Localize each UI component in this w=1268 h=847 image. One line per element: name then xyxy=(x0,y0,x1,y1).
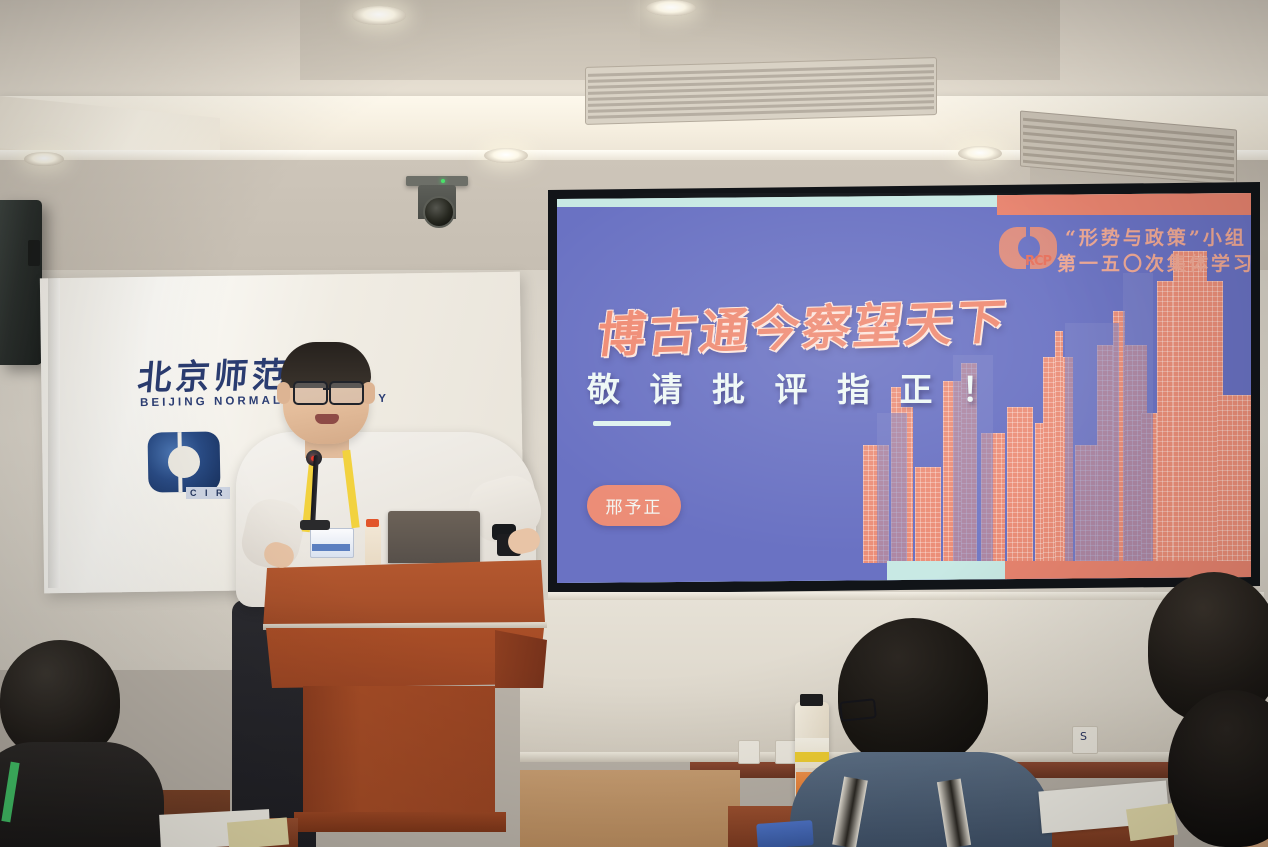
audience-member-body xyxy=(0,742,164,847)
eyeglasses-icon xyxy=(329,381,364,405)
skyline-building xyxy=(1217,395,1251,563)
slide-presenter-pill: 邢予正 xyxy=(587,485,681,526)
ceiling-recess-inner xyxy=(640,0,1060,58)
presenter-mouth xyxy=(315,414,339,424)
wall-outlet[interactable] xyxy=(775,740,797,764)
slide-presenter-name: 邢予正 xyxy=(606,493,663,518)
skyline-building-faded xyxy=(1123,273,1153,563)
wall-speaker-bracket xyxy=(28,240,40,266)
presenter-ear-left xyxy=(277,382,290,404)
floor xyxy=(520,770,740,847)
handout-notes[interactable] xyxy=(227,817,289,847)
slide-header-line2: 第一五〇次集体学习 xyxy=(1057,249,1251,276)
wall-switch-label: S xyxy=(1080,730,1087,743)
skyline-building xyxy=(1055,331,1063,563)
presenter-badge-stripe xyxy=(312,544,350,551)
water-bottle-cap xyxy=(366,519,379,527)
slide-divider xyxy=(593,421,671,426)
presenter-name-badge xyxy=(310,528,354,558)
projection-screen: RCP “形势与政策”小组 第一五〇次集体学习 博古通今察望天下 敬 请 批 评… xyxy=(557,193,1251,583)
podium-base xyxy=(294,812,506,832)
air-conditioning-vent xyxy=(585,57,937,125)
skyline-building-faded xyxy=(1065,323,1119,563)
wall-outlet[interactable] xyxy=(738,740,760,764)
podium-top xyxy=(263,560,545,628)
microphone-base xyxy=(300,520,330,530)
camera-lens-icon xyxy=(423,196,455,228)
skyline-building xyxy=(1173,251,1207,563)
wall-speaker xyxy=(0,200,42,365)
audience-member-body xyxy=(790,752,1052,847)
banner-fold xyxy=(48,278,60,588)
skyline-building-faded xyxy=(877,413,907,563)
bottle-label-stripe xyxy=(795,752,829,762)
slide-title: 博古通今察望天下 xyxy=(594,282,1013,366)
banner-logo-label: C I R xyxy=(186,487,230,499)
audience-eyeglasses-icon xyxy=(839,698,877,722)
ceiling-light xyxy=(646,0,696,16)
audience-member-head xyxy=(838,618,988,768)
bottle-cap xyxy=(800,694,823,706)
presentation-slide: RCP “形势与政策”小组 第一五〇次集体学习 博古通今察望天下 敬 请 批 评… xyxy=(557,193,1251,583)
cir-globe-icon xyxy=(147,431,220,492)
handout-notes[interactable] xyxy=(1126,803,1178,841)
slide-logo-icon: RCP xyxy=(999,227,1057,269)
podium-side xyxy=(495,630,547,690)
slide-logo-text: RCP xyxy=(1025,254,1051,269)
slide-coral-top-bar xyxy=(997,193,1251,215)
lecture-hall-photo: 北京师范大学 BEIJING NORMAL UNIVERSITY C I R 小… xyxy=(0,0,1268,847)
eyeglasses-icon xyxy=(293,381,328,405)
ceiling-light xyxy=(352,6,406,25)
laptop[interactable] xyxy=(388,511,480,563)
ceiling-light xyxy=(958,146,1002,161)
ceiling-light xyxy=(24,152,64,166)
blue-tablet[interactable] xyxy=(756,820,814,847)
eyeglasses-bridge xyxy=(323,388,331,390)
ceiling-light xyxy=(484,148,528,163)
skyline-building xyxy=(915,467,941,563)
skyline-building xyxy=(1007,407,1033,563)
slide-header-line1: “形势与政策”小组 xyxy=(1065,223,1247,250)
slide-subtitle: 敬 请 批 评 指 正 ！ xyxy=(587,363,1004,411)
camera-led-icon xyxy=(441,179,445,183)
water-bottle[interactable] xyxy=(365,524,381,566)
podium-column xyxy=(303,686,495,818)
